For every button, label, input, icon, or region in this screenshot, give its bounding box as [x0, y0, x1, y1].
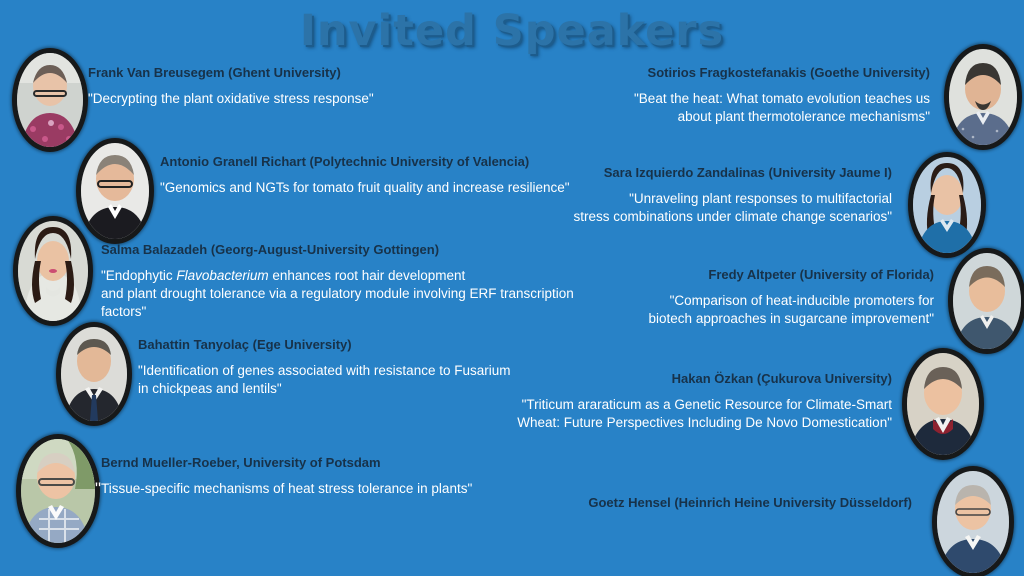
portrait-bernd-mueller-roeber	[16, 434, 100, 548]
speaker-talk-line-1: "Identification of genes associated with…	[138, 363, 510, 378]
portrait-bahattin-tanyolac	[56, 322, 132, 426]
speaker-name: Frank Van Breusegem (Ghent University)	[88, 64, 508, 81]
speaker-name: Salma Balazadeh (Georg-August-University…	[101, 241, 621, 258]
portrait-sotirios-fragkostefanakis	[944, 44, 1022, 150]
speaker-talk: "Beat the heat: What tomato evolution te…	[520, 90, 930, 126]
speaker-name: Goetz Hensel (Heinrich Heine University …	[500, 494, 912, 511]
portrait-image	[913, 157, 981, 253]
speaker-name: Hakan Özkan (Çukurova University)	[470, 370, 892, 387]
portrait-image	[21, 439, 95, 543]
portrait-image	[81, 143, 149, 239]
speaker-talk-line-1: "Beat the heat: What tomato evolution te…	[634, 91, 930, 106]
speaker-talk-line-2: and plant drought tolerance via a regula…	[101, 286, 574, 319]
portrait-image	[907, 353, 979, 455]
speaker-entry-goetz-hensel: Goetz Hensel (Heinrich Heine University …	[500, 494, 912, 511]
portrait-image	[61, 327, 127, 421]
portrait-sara-izquierdo-zandalinas	[908, 152, 986, 258]
speaker-talk-text: Tissue-specific mechanisms of heat stres…	[101, 481, 472, 496]
portrait-image	[17, 53, 83, 147]
speaker-talk-line-2: stress combinations under climate change…	[574, 209, 892, 224]
speaker-talk-line-2: biotech approaches in sugarcane improvem…	[649, 311, 934, 326]
portrait-goetz-hensel	[932, 466, 1014, 576]
page-title: Invited Speakers	[0, 6, 1024, 56]
speaker-talk: "Unraveling plant responses to multifact…	[480, 190, 892, 226]
portrait-frank-van-breusegem	[12, 48, 88, 152]
speaker-talk-line-1: "Endophytic Flavobacterium enhances root…	[101, 268, 465, 283]
invited-speakers-slide: Invited Speakers	[0, 0, 1024, 576]
speaker-talk-line-2: about plant thermotolerance mechanisms"	[678, 109, 930, 124]
speaker-name: Bahattin Tanyolaç (Ege University)	[138, 336, 568, 353]
portrait-fredy-altpeter	[948, 248, 1024, 354]
portrait-image	[937, 471, 1009, 573]
speaker-name: Bernd Mueller-Roeber, University of Pots…	[101, 454, 531, 471]
speaker-entry-sara-izquierdo-zandalinas: Sara Izquierdo Zandalinas (University Ja…	[480, 164, 892, 226]
speaker-talk-line-1: "Comparison of heat-inducible promoters …	[670, 293, 934, 308]
speaker-entry-bernd-mueller-roeber: Bernd Mueller-Roeber, University of Pots…	[101, 454, 531, 498]
portrait-hakan-ozkan	[902, 348, 984, 460]
speaker-entry-sotirios-fragkostefanakis: Sotirios Fragkostefanakis (Goethe Univer…	[520, 64, 930, 126]
speaker-entry-hakan-ozkan: Hakan Özkan (Çukurova University) "Triti…	[470, 370, 892, 432]
portrait-image	[949, 49, 1017, 145]
speaker-talk-line-2: Wheat: Future Perspectives Including De …	[517, 415, 892, 430]
speaker-talk-line-1: "Unraveling plant responses to multifact…	[629, 191, 892, 206]
speaker-talk: "Tissue-specific mechanisms of heat stre…	[95, 480, 531, 498]
speaker-name: Sotirios Fragkostefanakis (Goethe Univer…	[520, 64, 930, 81]
speaker-name: Sara Izquierdo Zandalinas (University Ja…	[480, 164, 892, 181]
portrait-image	[18, 221, 88, 321]
speaker-name: Fredy Altpeter (University of Florida)	[530, 266, 934, 283]
speaker-talk: "Decrypting the plant oxidative stress r…	[88, 90, 508, 108]
speaker-talk-line-2: in chickpeas and lentils"	[138, 381, 282, 396]
speaker-talk: "Comparison of heat-inducible promoters …	[530, 292, 934, 328]
portrait-image	[953, 253, 1021, 349]
species-name: Flavobacterium	[176, 268, 268, 283]
speaker-entry-fredy-altpeter: Fredy Altpeter (University of Florida) "…	[530, 266, 934, 328]
portrait-salma-balazadeh	[13, 216, 93, 326]
speaker-entry-frank-van-breusegem: Frank Van Breusegem (Ghent University) "…	[88, 64, 508, 108]
speaker-talk-line-1: "Triticum araraticum as a Genetic Resour…	[522, 397, 892, 412]
speaker-talk: "Triticum araraticum as a Genetic Resour…	[470, 396, 892, 432]
portrait-antonio-granell-richart	[76, 138, 154, 244]
